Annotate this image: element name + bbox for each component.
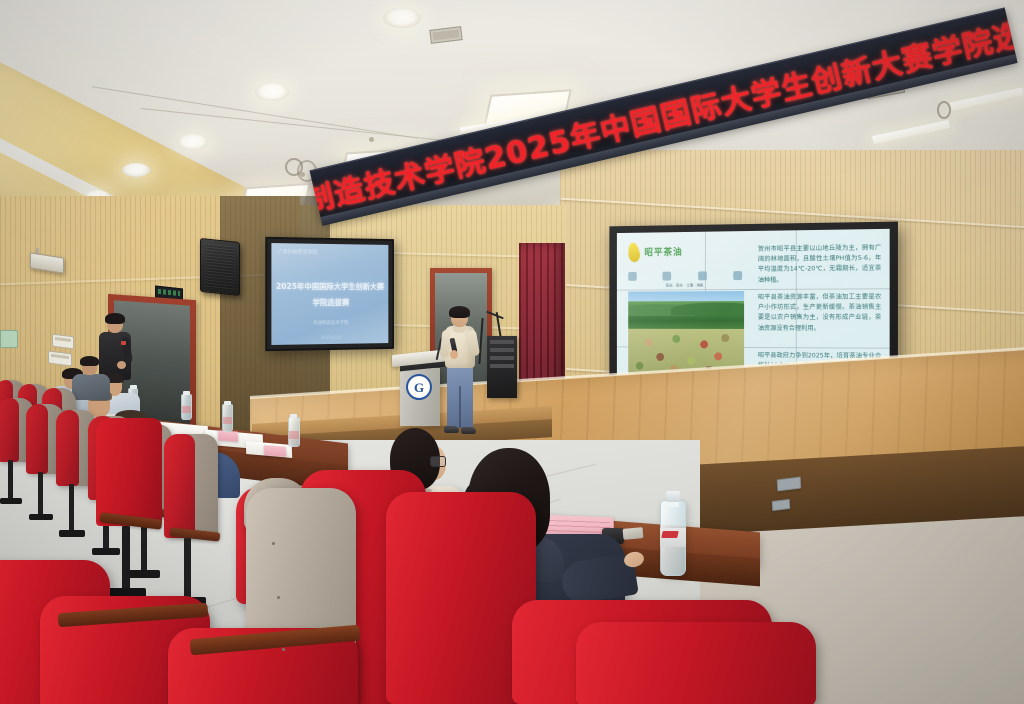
auditorium-photo: 先进制造技术学院2025年中国国际大学生创新大赛学院选拔赛 广西科技师范学院 2… [0, 0, 1024, 704]
podium-emblem-letter: G [414, 381, 424, 394]
foreground-seat-red[interactable] [576, 622, 816, 704]
sun-icon [628, 271, 637, 280]
seat-foot [0, 498, 22, 504]
judge [72, 358, 112, 398]
seat-rivet [282, 648, 285, 651]
presenter [440, 308, 480, 448]
podium-emblem: G [406, 374, 432, 400]
seat-cushion [56, 410, 79, 486]
mountain-ridge [671, 302, 744, 315]
staff-hand [117, 361, 126, 369]
slide-logo-label: 昭平茶油 [644, 245, 682, 258]
seat-cushion [26, 404, 48, 474]
seat-leg [122, 526, 130, 590]
ceiling-downlight [122, 163, 150, 177]
water-bottle [222, 404, 233, 432]
av-equipment-rack [487, 336, 517, 398]
presenter-hand [450, 350, 458, 359]
pink-score-sheet [264, 445, 286, 457]
water-bottle [288, 417, 300, 447]
presenter-shoe [461, 427, 476, 434]
judge-torso [72, 374, 110, 400]
seat-foot [128, 570, 160, 578]
seat-cushion [576, 622, 816, 704]
slide-paragraph-2: 昭平县茶油资源丰富，但茶油加工主要是农户小作坊形式，生产更新缓慢。茶油销售主要是… [758, 292, 881, 334]
altitude-icon [733, 271, 742, 280]
wall-panel-green [0, 330, 18, 348]
seat-leg [184, 538, 191, 600]
projection-title-line2: 学院选拔赛 [271, 297, 388, 308]
bottle-cap [666, 491, 680, 502]
seat-foot [59, 530, 85, 537]
seat-cushion [96, 418, 162, 526]
presenter-leg-split [459, 386, 461, 428]
slide-icon-row [628, 267, 742, 284]
projection-footer: 2025年5月 [271, 334, 388, 342]
slide-paragraph-1: 贺州市昭平县主要以山地丘陵为主，拥有广阔的林地面积，且酸性土壤PH值为5-6，年… [758, 243, 881, 286]
seat-leg [38, 472, 43, 516]
bottle-label [660, 528, 686, 547]
photo-mountain-landscape [628, 291, 744, 329]
seat-foot [29, 514, 53, 520]
presenter-hair [449, 306, 470, 318]
judge-hair [80, 356, 99, 366]
seat-foot [92, 548, 120, 555]
projection-header: 广西科技师范学院 [277, 248, 317, 256]
projection-title-line1: 2025年中国国际大学生创新大赛 [271, 281, 388, 292]
ceiling-downlight [177, 134, 208, 150]
water-bottle[interactable] [660, 500, 686, 576]
podium: G [398, 352, 442, 424]
water-bottle [181, 394, 192, 420]
auditorium-seat[interactable] [164, 434, 218, 538]
led-panel-seam [617, 288, 890, 290]
staff-shirt-logo [121, 341, 126, 345]
seat-rivet [277, 596, 280, 599]
seat-leg [8, 460, 13, 500]
soil-icon [698, 271, 707, 280]
auditorium-seat[interactable] [96, 418, 162, 526]
eyeglasses [430, 456, 446, 467]
ceiling-downlight [255, 83, 289, 101]
staff-hair [105, 313, 125, 324]
wall-outlet[interactable] [48, 351, 72, 367]
wall-speaker [200, 238, 240, 296]
projection-screen-frame: 广西科技师范学院 2025年中国国际大学生创新大赛 学院选拔赛 先进制造技术学院… [265, 237, 394, 351]
projection-subtitle: 先进制造技术学院 [271, 320, 388, 327]
seat-rivet [272, 542, 275, 545]
seat-cushion [0, 398, 19, 462]
wall-outlet[interactable] [52, 334, 74, 350]
tea-oil-logo-icon [627, 242, 641, 263]
speaker-grill [204, 243, 236, 290]
rain-icon [663, 271, 672, 280]
slide-icon-caption: 阳光 · 雨水 · 土壤 · 海拔 [628, 283, 742, 289]
seat-leg [69, 484, 74, 532]
seat-cushion [164, 434, 195, 538]
projection-screen: 广西科技师范学院 2025年中国国际大学生创新大赛 学院选拔赛 先进制造技术学院… [271, 243, 388, 345]
